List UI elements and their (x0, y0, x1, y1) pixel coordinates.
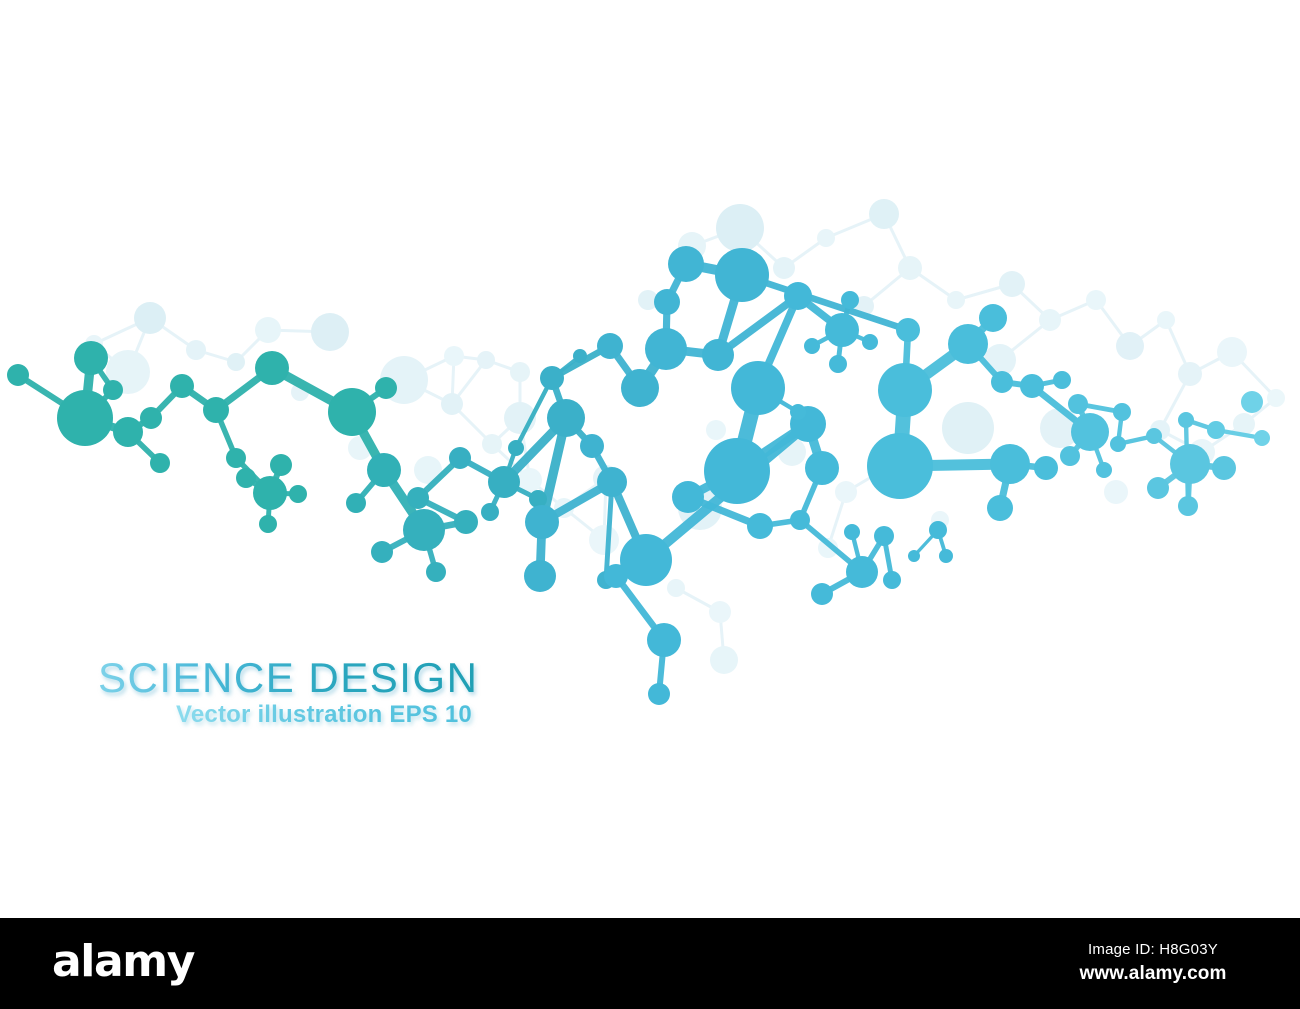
molecule-illustration: SCIENCE DESIGN Vector illustration EPS 1… (0, 0, 1300, 918)
ghost-atom (186, 340, 206, 360)
ghost-atom (444, 346, 464, 366)
atom (449, 447, 471, 469)
atom (811, 583, 833, 605)
atom (1178, 496, 1198, 516)
footer-meta: Image ID: H8G03Y www.alamy.com (1028, 940, 1278, 986)
atom (259, 515, 277, 533)
atom (236, 468, 256, 488)
atom (1178, 412, 1194, 428)
atom (346, 493, 366, 513)
ghost-atom (1039, 309, 1061, 331)
atom (896, 318, 920, 342)
screenshot-canvas: SCIENCE DESIGN Vector illustration EPS 1… (0, 0, 1300, 1009)
ghost-atom (773, 257, 795, 279)
ghost-atom (710, 646, 738, 674)
ghost-atom (589, 525, 619, 555)
atom (1071, 413, 1109, 451)
ghost-atom (667, 579, 685, 597)
atom (150, 453, 170, 473)
ghost-atom (1178, 362, 1202, 386)
ghost-atom (817, 229, 835, 247)
atom (672, 481, 704, 513)
alamy-url-label: www.alamy.com (1028, 962, 1278, 986)
ghost-atom (706, 420, 726, 440)
atom (140, 407, 162, 429)
atom (540, 366, 564, 390)
atom (1170, 444, 1210, 484)
atom (1096, 462, 1112, 478)
ghost-atom (1116, 332, 1144, 360)
atom (874, 526, 894, 546)
atom (1147, 477, 1169, 499)
atom (883, 571, 901, 589)
caption-block: SCIENCE DESIGN Vector illustration EPS 1… (98, 655, 518, 735)
atom (648, 683, 670, 705)
ghost-atom (227, 353, 245, 371)
atom (1053, 371, 1071, 389)
atom (524, 560, 556, 592)
atom (454, 510, 478, 534)
atom (253, 476, 287, 510)
atom (113, 417, 143, 447)
ghost-atom (1157, 311, 1175, 329)
atom (702, 339, 734, 371)
ghost-atom (1217, 337, 1247, 367)
atom (621, 369, 659, 407)
atom (597, 333, 623, 359)
ghost-atom (510, 362, 530, 382)
ghost-atom (869, 199, 899, 229)
atom (948, 324, 988, 364)
atom (403, 509, 445, 551)
atom (573, 349, 587, 363)
atom (74, 341, 108, 375)
atom (367, 453, 401, 487)
atom (804, 338, 820, 354)
ghost-atom (709, 601, 731, 623)
atom (668, 246, 704, 282)
molecule-network-svg (0, 0, 1300, 918)
atom (508, 440, 524, 456)
atom (990, 444, 1030, 484)
ghost-atom (898, 256, 922, 280)
atom (704, 438, 770, 504)
atom (375, 377, 397, 399)
atom (1146, 428, 1162, 444)
atom (844, 524, 860, 540)
ghost-atom (311, 313, 349, 351)
atom (547, 399, 585, 437)
ghost-atom (835, 481, 857, 503)
atom (790, 404, 806, 420)
atom (715, 248, 769, 302)
ghost-atom (1267, 389, 1285, 407)
ghost-atom (134, 302, 166, 334)
atom (841, 291, 859, 309)
atom (1020, 374, 1044, 398)
ghost-atom (477, 351, 495, 369)
atom (908, 550, 920, 562)
atom (481, 503, 499, 521)
atom (846, 556, 878, 588)
atom (170, 374, 194, 398)
atom (929, 521, 947, 539)
ghost-atom (716, 204, 764, 252)
ghost-atom (947, 291, 965, 309)
atom-nodes-layer (7, 246, 1270, 705)
atom (647, 623, 681, 657)
atom (805, 451, 839, 485)
ghost-atom (1104, 480, 1128, 504)
alamy-footer-bar: alamy Image ID: H8G03Y www.alamy.com (0, 918, 1300, 1009)
atom (878, 363, 932, 417)
atom (1060, 446, 1080, 466)
atom (939, 549, 953, 563)
image-id-label: Image ID: H8G03Y (1028, 940, 1278, 960)
atom (731, 361, 785, 415)
atom (270, 454, 292, 476)
atom (1034, 456, 1058, 480)
atom (597, 467, 627, 497)
atom (226, 448, 246, 468)
atom (620, 534, 672, 586)
atom (987, 495, 1013, 521)
ghost-atom (1086, 290, 1106, 310)
atom (203, 397, 229, 423)
ghost-atom (999, 271, 1025, 297)
ghost-atom (482, 434, 502, 454)
atom (328, 388, 376, 436)
page-subtitle: Vector illustration EPS 10 (176, 701, 472, 729)
atom (255, 351, 289, 385)
atom (580, 434, 604, 458)
atom (1068, 394, 1088, 414)
atom (790, 510, 810, 530)
atom (488, 466, 520, 498)
atom (784, 282, 812, 310)
atom (867, 433, 933, 499)
atom (747, 513, 773, 539)
atom (1113, 403, 1131, 421)
atom (604, 564, 628, 588)
ghost-atom (942, 402, 994, 454)
atom (1207, 421, 1225, 439)
atom (426, 562, 446, 582)
atom (825, 313, 859, 347)
atom (289, 485, 307, 503)
atom (7, 364, 29, 386)
atom (829, 355, 847, 373)
atom (654, 289, 680, 315)
atom (1254, 430, 1270, 446)
page-title: SCIENCE DESIGN (98, 655, 478, 701)
atom (645, 328, 687, 370)
bonds-layer (18, 264, 1262, 694)
alamy-logo: alamy (52, 937, 194, 987)
atom (103, 380, 123, 400)
atom (979, 304, 1007, 332)
atom (1241, 391, 1263, 413)
atom (525, 505, 559, 539)
atom (407, 487, 429, 509)
atom (1110, 436, 1126, 452)
atom (991, 371, 1013, 393)
ghost-atom (255, 317, 281, 343)
atom (1212, 456, 1236, 480)
atom (57, 390, 113, 446)
ghost-atom (441, 393, 463, 415)
atom (862, 334, 878, 350)
atom (371, 541, 393, 563)
